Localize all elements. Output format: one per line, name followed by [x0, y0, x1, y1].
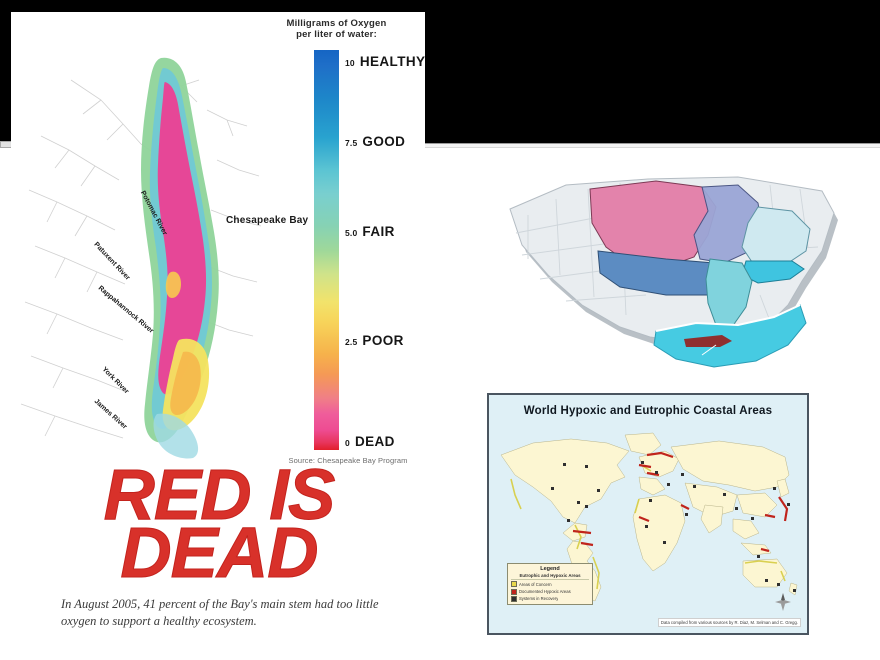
scale-text-dead: DEAD [355, 434, 395, 449]
us-watershed-map: MISSOURI UPPER MISSISSIPPI OHIO ARKANSAS… [470, 155, 870, 390]
scale-text-healthy: HEALTHY [360, 54, 425, 69]
oxygen-legend-heading: Milligrams of Oxygen per liter of water: [254, 18, 419, 40]
slide-canvas: Milligrams of Oxygen per liter of water: [0, 0, 880, 660]
scale-value-50: 5.0 [345, 228, 357, 238]
scale-label-poor: 2.5POOR [345, 332, 404, 350]
scale-text-good: GOOD [362, 134, 405, 149]
oxygen-legend-heading-line1: Milligrams of Oxygen [254, 18, 419, 29]
legend-row-areas-of-concern: Areas of Concern [511, 581, 589, 587]
legend-swatch-systems-in-recovery [511, 596, 517, 602]
compass-rose-icon [775, 593, 791, 611]
legend-label-documented-hypoxic: Documented Hypoxic Areas [519, 589, 571, 594]
scale-label-good: 7.5GOOD [345, 133, 405, 151]
scale-value-10: 10 [345, 58, 355, 68]
legend-label-systems-in-recovery: Systems in Recovery [519, 596, 558, 601]
legend-row-systems-in-recovery: Systems in Recovery [511, 596, 589, 602]
scale-value-75: 7.5 [345, 138, 357, 148]
world-map-legend: Legend Eutrophic and Hypoxic Areas Areas… [507, 563, 593, 605]
world-hypoxic-map: World Hypoxic and Eutrophic Coastal Area… [487, 393, 809, 635]
legend-swatch-documented-hypoxic [511, 589, 517, 595]
red-is-dead-headline: RED IS DEAD [19, 467, 419, 583]
world-map-title: World Hypoxic and Eutrophic Coastal Area… [489, 405, 807, 417]
scale-text-poor: POOR [362, 333, 403, 348]
chesapeake-caption: In August 2005, 41 percent of the Bay's … [61, 596, 391, 630]
scale-label-healthy: 10HEALTHY [345, 53, 425, 71]
oxygen-legend-heading-line2: per liter of water: [254, 29, 419, 40]
headline-line-2: DEAD [19, 525, 419, 583]
scale-label-dead: 0DEAD [345, 433, 395, 451]
legend-title: Legend [511, 566, 589, 572]
chesapeake-bay-label: Chesapeake Bay [226, 215, 308, 226]
legend-subtitle: Eutrophic and Hypoxic Areas [511, 573, 589, 580]
us-basin-graphic [470, 155, 870, 390]
scale-value-0: 0 [345, 438, 350, 448]
bay-map-graphic [11, 40, 311, 460]
black-band-left [0, 0, 11, 143]
chesapeake-bay-figure: Milligrams of Oxygen per liter of water: [11, 12, 425, 634]
scale-label-fair: 5.0FAIR [345, 223, 395, 241]
oxygen-color-ramp [314, 50, 339, 450]
legend-label-areas-of-concern: Areas of Concern [519, 582, 552, 587]
legend-swatch-areas-of-concern [511, 581, 517, 587]
world-map-credit: Data compiled from various sources by R.… [658, 618, 801, 627]
scale-text-fair: FAIR [362, 224, 394, 239]
legend-row-documented-hypoxic: Documented Hypoxic Areas [511, 589, 589, 595]
scale-value-25: 2.5 [345, 337, 357, 347]
